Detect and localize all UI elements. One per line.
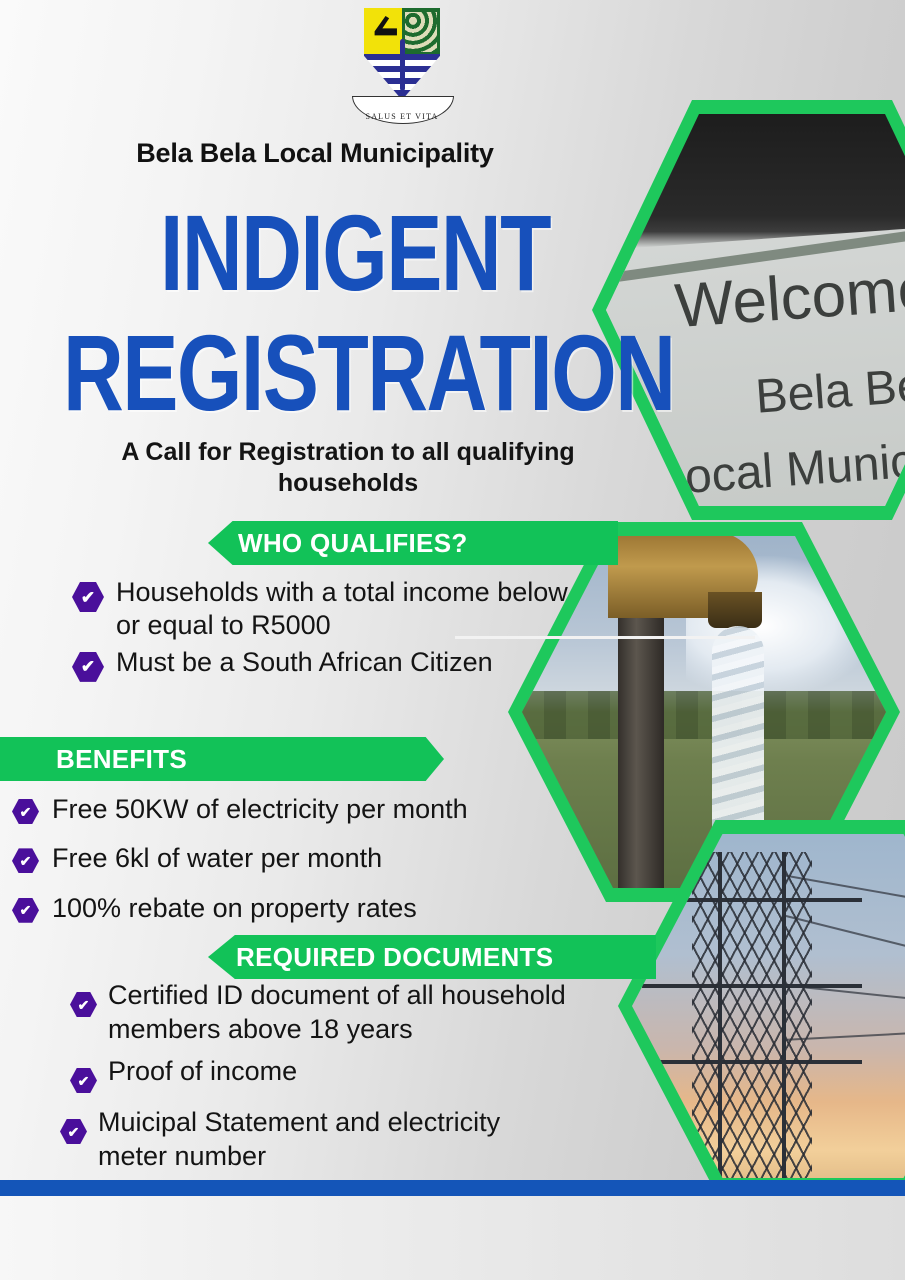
check-glyph: ✔ [81,589,95,606]
poster-root: Welcome Bela Be ocal Munic [0,0,905,1280]
tree-line [522,691,886,739]
section-heading-required-documents: REQUIRED DOCUMENTS [208,935,656,979]
pylon-lattice-tower [692,852,812,1178]
coat-of-arms-icon: SALUS ET VITA [352,6,452,124]
check-glyph: ✔ [68,1125,80,1139]
check-glyph: ✔ [20,805,32,819]
benefits-list: ✔ Free 50KW of electricity per month ✔ F… [12,793,572,941]
check-glyph: ✔ [78,1074,90,1088]
list-item-label: 100% rebate on property rates [52,892,417,924]
check-hexagon-icon: ✔ [70,1068,97,1093]
list-item: ✔ Certified ID document of all household… [70,978,630,1046]
required-documents-list: ✔ Certified ID document of all household… [70,978,630,1181]
check-glyph: ✔ [20,903,32,917]
page-title-line-2: REGISTRATION [63,310,675,435]
check-hexagon-icon: ✔ [72,582,104,612]
list-item: ✔ Households with a total income below o… [72,576,592,642]
section-heading-who-qualifies: WHO QUALIFIES? [208,521,618,565]
page-subtitle: A Call for Registration to all qualifyin… [60,437,636,498]
list-item-label: Certified ID document of all household m… [108,978,578,1046]
list-item: ✔ Muicipal Statement and electricity met… [60,1105,630,1173]
check-hexagon-icon: ✔ [12,799,39,824]
tap-spout [708,592,762,628]
road-sign-line-2: Bela Be [754,358,905,425]
list-item-label: Muicipal Statement and electricity meter… [98,1105,568,1173]
motto-text: SALUS ET VITA [352,112,452,121]
organisation-name: Bela Bela Local Municipality [0,138,630,169]
check-hexagon-icon: ✔ [12,848,39,873]
shield-shape [364,8,440,100]
footer-divider-bar [0,1180,905,1196]
list-item: ✔ Free 50KW of electricity per month [12,793,572,825]
footer: 2030 NDP 30 YEARS OF FREEDOM 07 April 20… [0,1196,905,1280]
road-sign-line-3: ocal Munic [683,434,905,505]
wheat-sheaf-icon [405,12,437,52]
list-item-label: Households with a total income below or … [116,576,592,642]
list-item: ✔ Must be a South African Citizen [72,646,592,682]
list-item-label: Proof of income [108,1054,297,1088]
list-item: ✔ Free 6kl of water per month [12,842,572,874]
check-hexagon-icon: ✔ [12,898,39,923]
list-item: ✔ 100% rebate on property rates [12,892,572,924]
serpent-rod-icon [400,39,405,91]
check-glyph: ✔ [81,658,95,675]
check-hexagon-icon: ✔ [70,992,97,1017]
page-title-line-1: INDIGENT [160,190,550,315]
check-hexagon-icon: ✔ [60,1119,87,1144]
list-item: ✔ Proof of income [70,1054,630,1093]
check-glyph: ✔ [78,998,90,1012]
income-underline [455,636,755,639]
check-glyph: ✔ [20,854,32,868]
check-hexagon-icon: ✔ [72,652,104,682]
list-item-label: Free 50KW of electricity per month [52,793,468,825]
who-qualifies-list: ✔ Households with a total income below o… [72,576,592,686]
list-item-label: Free 6kl of water per month [52,842,382,874]
section-heading-benefits: BENEFITS [0,737,444,781]
list-item-label: Must be a South African Citizen [116,646,493,679]
